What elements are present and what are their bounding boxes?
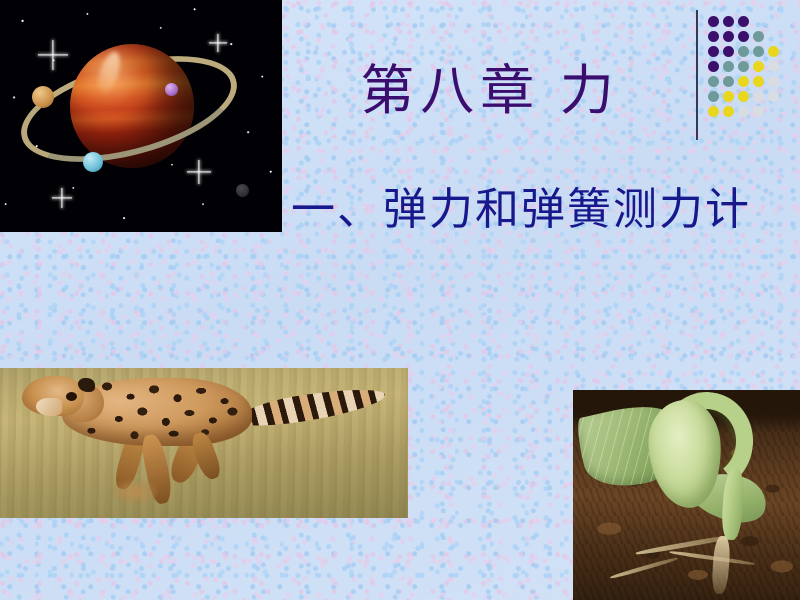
dot-purple: [708, 61, 719, 72]
dot-teal: [753, 31, 764, 42]
vertical-rule-divider: [696, 10, 698, 140]
dot-yellow: [753, 76, 764, 87]
dot-empty: [768, 106, 779, 117]
dot-empty: [753, 16, 764, 27]
dot-yellow: [738, 76, 749, 87]
dot-teal: [753, 46, 764, 57]
dot-yellow: [738, 91, 749, 102]
dot-purple: [723, 16, 734, 27]
dot-teal: [708, 76, 719, 87]
moon-purple: [165, 83, 178, 96]
dot-purple: [708, 16, 719, 27]
slide-title: 第八章 力: [300, 62, 680, 120]
dot-purple: [708, 46, 719, 57]
slide-canvas: 第八章 力 一、弹力和弹簧测力计: [0, 0, 800, 600]
dot-grid-decoration: [708, 16, 783, 121]
dot-teal: [738, 46, 749, 57]
cheetah-eye: [66, 392, 77, 401]
dot-grey: [753, 106, 764, 117]
dot-yellow: [768, 46, 779, 57]
dot-purple: [708, 31, 719, 42]
moon-dark: [236, 184, 249, 197]
dot-purple: [738, 31, 749, 42]
slide-subtitle: 一、弹力和弹簧测力计: [282, 186, 760, 234]
cheetah-head: [22, 376, 84, 416]
cheetah-muzzle: [36, 398, 62, 416]
dot-grey: [753, 91, 764, 102]
dot-yellow: [753, 61, 764, 72]
dot-teal: [708, 91, 719, 102]
dot-teal: [723, 76, 734, 87]
space-planet-image: [0, 0, 282, 232]
star-sparkle-icon: [187, 160, 211, 184]
dot-purple: [723, 46, 734, 57]
dot-teal: [723, 61, 734, 72]
dot-grey: [738, 106, 749, 117]
dot-yellow: [723, 91, 734, 102]
star-sparkle-icon: [38, 40, 68, 70]
star-sparkle-icon: [52, 188, 72, 208]
dot-purple: [738, 16, 749, 27]
dot-teal: [738, 61, 749, 72]
dot-grey: [768, 76, 779, 87]
dot-grey: [768, 61, 779, 72]
cheetah-ear: [78, 378, 95, 392]
seedling-image: [573, 390, 800, 600]
dot-yellow: [723, 106, 734, 117]
dot-yellow: [708, 106, 719, 117]
cheetah-paw-blur: [112, 480, 158, 504]
moon-cyan: [83, 152, 103, 172]
dot-grey: [768, 91, 779, 102]
star-sparkle-icon: [209, 34, 227, 52]
dot-empty: [768, 31, 779, 42]
dot-empty: [768, 16, 779, 27]
cheetah-image: [0, 368, 408, 518]
dot-purple: [723, 31, 734, 42]
